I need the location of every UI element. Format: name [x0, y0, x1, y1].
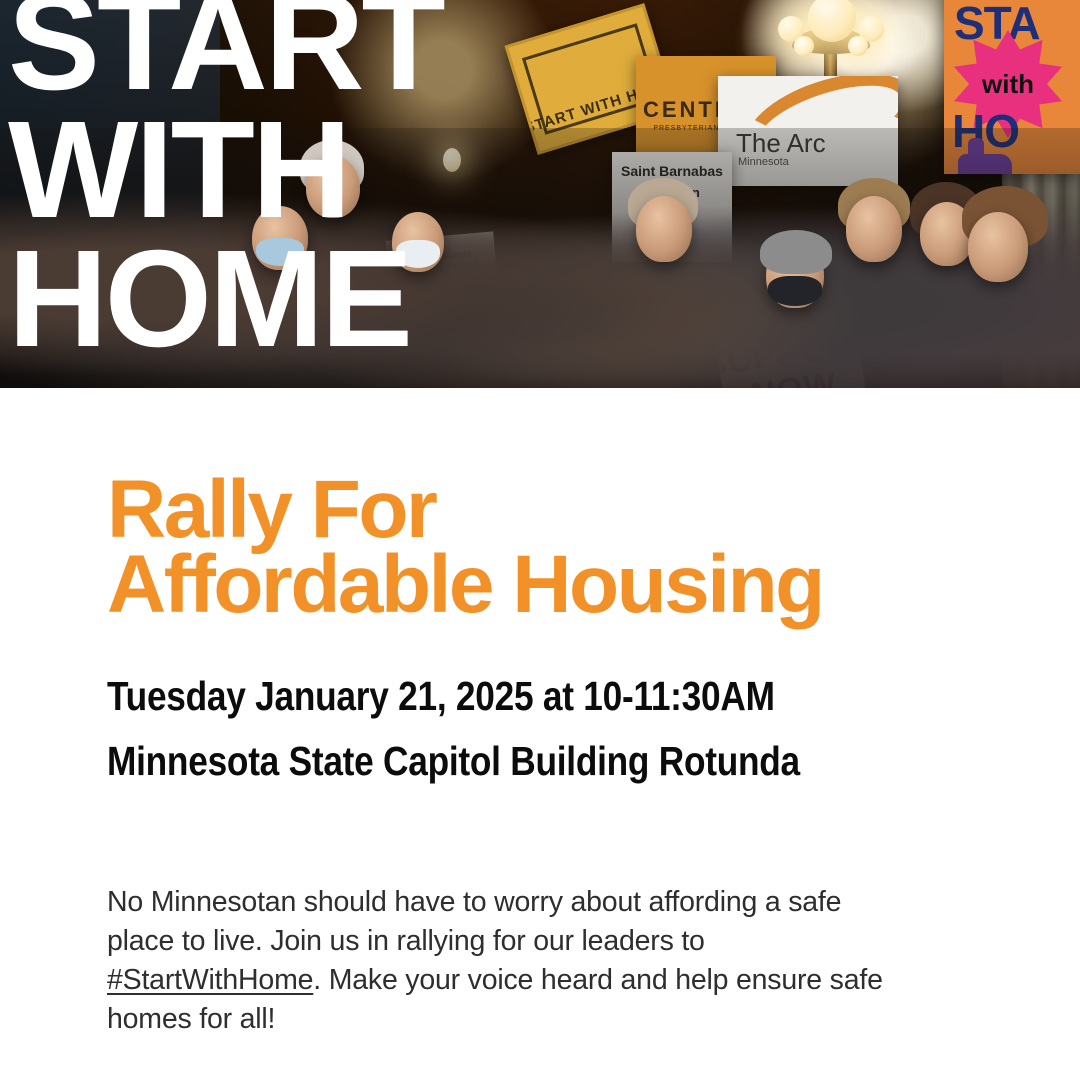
event-datetime: Tuesday January 21, 2025 at 10-11:30AM — [107, 676, 881, 717]
person-face — [846, 196, 902, 262]
face-mask-icon — [768, 276, 822, 306]
person-face — [636, 196, 692, 262]
rally-poster: STA with HO START WITH HOME CENTRAL PRES… — [0, 0, 1080, 1080]
banner-overlay-title: START WITH HOME — [8, 0, 443, 363]
event-details: Tuesday January 21, 2025 at 10-11:30AM M… — [107, 676, 1007, 782]
person-face — [968, 212, 1028, 282]
rally-photo-banner: STA with HO START WITH HOME CENTRAL PRES… — [0, 0, 1080, 388]
start-with-home-hashtag-link[interactable]: #StartWithHome — [107, 964, 313, 996]
description-part-one: No Minnesotan should have to worry about… — [107, 886, 841, 957]
event-description: No Minnesotan should have to worry about… — [107, 883, 897, 1039]
event-title: Rally For Affordable Housing — [107, 472, 1007, 623]
person-hair — [760, 230, 832, 274]
event-location: Minnesota State Capitol Building Rotunda — [107, 741, 881, 782]
poster-content: Rally For Affordable Housing Tuesday Jan… — [0, 388, 1080, 1080]
